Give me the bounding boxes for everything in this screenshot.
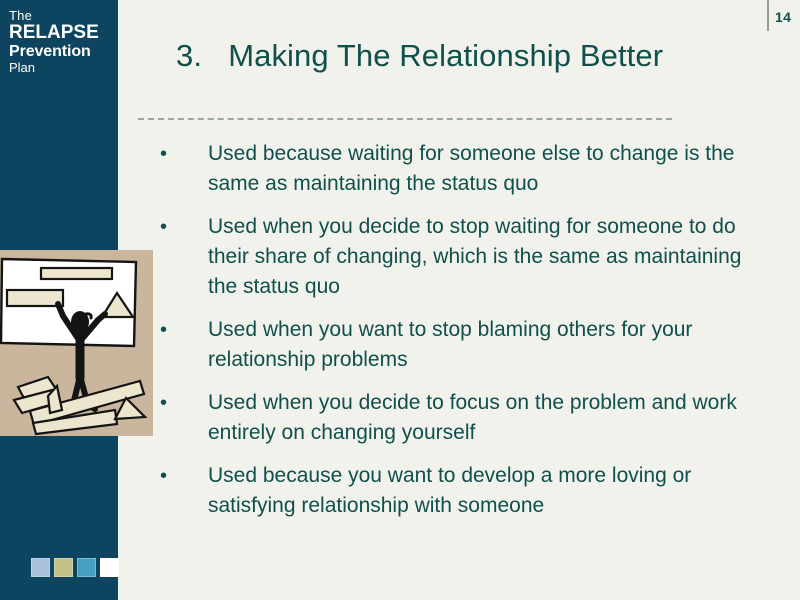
page-number-rule <box>767 0 769 31</box>
slide: The RELAPSE Prevention Plan <box>0 0 800 600</box>
list-item: • Used when you decide to focus on the p… <box>155 388 790 448</box>
bullet-marker-icon: • <box>155 388 208 418</box>
title-divider <box>138 118 672 120</box>
logo-line-the: The <box>9 9 113 22</box>
list-item: • Used because waiting for someone else … <box>155 139 790 199</box>
list-item: • Used because you want to develop a mor… <box>155 461 790 521</box>
page-title: 3. Making The Relationship Better <box>176 38 776 74</box>
list-item-text: Used when you want to stop blaming other… <box>208 315 775 375</box>
list-item: • Used when you decide to stop waiting f… <box>155 212 790 302</box>
list-item: • Used when you want to stop blaming oth… <box>155 315 790 375</box>
chip-blue <box>77 558 96 577</box>
chip-khaki <box>54 558 73 577</box>
bullet-marker-icon: • <box>155 139 208 169</box>
person-presenting-at-whiteboard-illustration <box>0 250 153 436</box>
list-item-text: Used when you decide to stop waiting for… <box>208 212 775 302</box>
chip-white <box>100 558 119 577</box>
logo-line-plan: Plan <box>9 61 113 74</box>
bullet-list: • Used because waiting for someone else … <box>155 139 790 534</box>
page-number: 14 <box>775 9 791 25</box>
chip-light-blue <box>31 558 50 577</box>
list-item-text: Used because you want to develop a more … <box>208 461 775 521</box>
bullet-marker-icon: • <box>155 461 208 491</box>
bullet-marker-icon: • <box>155 212 208 242</box>
logo-line-relapse: RELAPSE <box>9 23 113 42</box>
brand-logo: The RELAPSE Prevention Plan <box>9 9 113 74</box>
bullet-marker-icon: • <box>155 315 208 345</box>
logo-line-prevention: Prevention <box>9 44 113 60</box>
list-item-text: Used when you decide to focus on the pro… <box>208 388 775 448</box>
color-chip-row <box>31 558 119 577</box>
list-item-text: Used because waiting for someone else to… <box>208 139 775 199</box>
